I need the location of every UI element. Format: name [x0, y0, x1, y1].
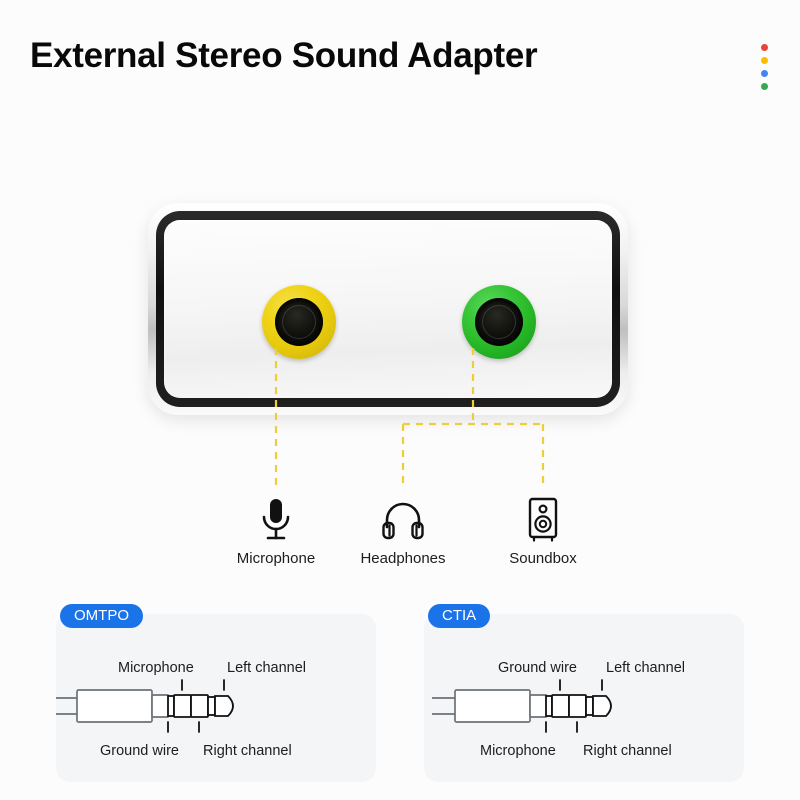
- dot-red-icon: [761, 44, 768, 51]
- sound-adapter-device: [148, 203, 628, 415]
- standard-panel-omtpo: OMTPO Microphone Left channel Ground wir…: [56, 614, 376, 782]
- device-front-face: [164, 220, 612, 398]
- headphone-jack-hole: [475, 298, 523, 346]
- dot-blue-icon: [761, 70, 768, 77]
- device-label-microphone: Microphone: [211, 550, 341, 567]
- microphone-jack: [262, 285, 336, 359]
- standard-panel-ctia: CTIA Ground wire Left channel Microphone…: [424, 614, 744, 782]
- device-item-headphones: Headphones: [338, 492, 468, 567]
- dot-green-icon: [761, 83, 768, 90]
- headphone-jack: [462, 285, 536, 359]
- microphone-icon: [211, 492, 341, 548]
- omtpo-plug-diagram: [56, 614, 376, 782]
- headphones-icon: [338, 492, 468, 548]
- headphone-jack-inner-ring: [482, 305, 516, 339]
- ctia-plug-diagram: [424, 614, 744, 782]
- infographic-page: External Stereo Sound Adapter: [0, 0, 800, 800]
- device-item-soundbox: Soundbox: [478, 492, 608, 567]
- device-label-headphones: Headphones: [338, 550, 468, 567]
- speaker-icon: [478, 492, 608, 548]
- microphone-jack-inner-ring: [282, 305, 316, 339]
- device-label-soundbox: Soundbox: [478, 550, 608, 567]
- device-item-microphone: Microphone: [211, 492, 341, 567]
- color-dot-stack: [761, 44, 768, 90]
- dot-yellow-icon: [761, 57, 768, 64]
- microphone-jack-hole: [275, 298, 323, 346]
- page-title: External Stereo Sound Adapter: [30, 36, 537, 76]
